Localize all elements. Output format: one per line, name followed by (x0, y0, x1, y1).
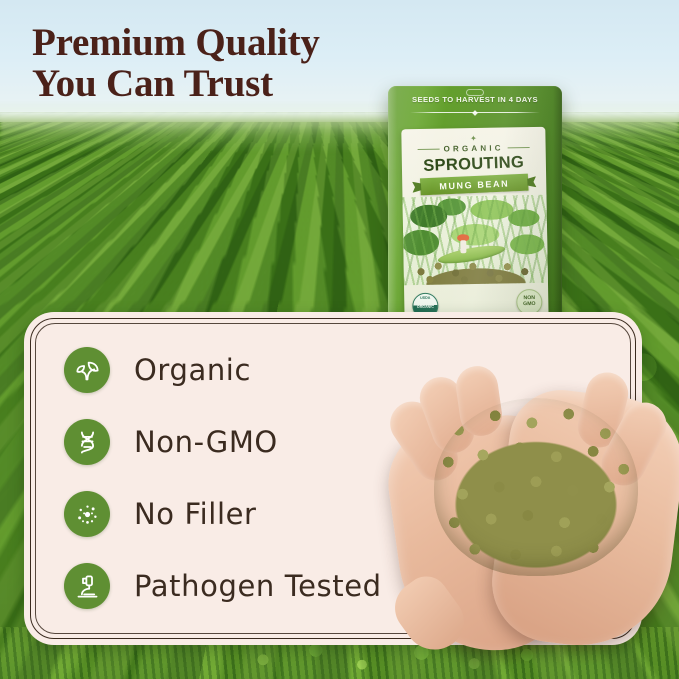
particles-icon (64, 491, 110, 537)
hands-holding-beans (396, 378, 679, 679)
product-package[interactable]: SEEDS TO HARVEST IN 4 DAYS ✦ ORGANIC SPR… (388, 86, 562, 348)
feature-label: No Filler (134, 497, 257, 531)
page-title: Premium Quality You Can Trust (32, 22, 320, 105)
headline-line-2: You Can Trust (32, 63, 320, 104)
dna-icon (64, 419, 110, 465)
feature-label: Organic (134, 353, 251, 387)
feature-label: Non-GMO (134, 425, 278, 459)
headline-line-1: Premium Quality (32, 21, 320, 64)
mung-bean-pile (434, 398, 638, 576)
leaves-icon (64, 347, 110, 393)
package-gloss (388, 86, 562, 348)
microscope-icon (64, 563, 110, 609)
feature-label: Pathogen Tested (134, 569, 382, 603)
product-marketing-image: Premium Quality You Can Trust SEEDS TO H… (0, 0, 679, 679)
left-thumb (384, 568, 474, 662)
